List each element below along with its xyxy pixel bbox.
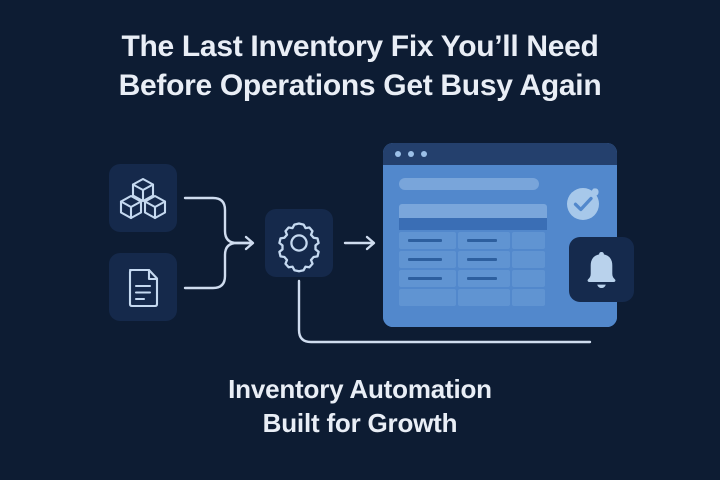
cell-text-line xyxy=(467,277,497,280)
table-cell xyxy=(512,289,545,306)
tagline-line-2: Built for Growth xyxy=(0,406,720,440)
table-row[interactable] xyxy=(399,270,547,287)
table-cell xyxy=(458,270,510,287)
table-cell xyxy=(458,251,510,268)
table-row[interactable] xyxy=(399,251,547,268)
document-icon xyxy=(109,253,177,321)
window-dot-3 xyxy=(421,151,427,157)
tagline-line-1: Inventory Automation xyxy=(0,372,720,406)
node-document[interactable] xyxy=(109,253,177,321)
cell-text-line xyxy=(467,239,497,242)
panel-header xyxy=(399,204,547,218)
cell-text-line xyxy=(467,258,497,261)
table-cell xyxy=(399,251,456,268)
tagline: Inventory Automation Built for Growth xyxy=(0,372,720,440)
check-circle-icon xyxy=(562,182,604,224)
cell-text-line xyxy=(408,277,442,280)
table-cell xyxy=(512,232,545,249)
window-dot-1 xyxy=(395,151,401,157)
table-row[interactable] xyxy=(399,232,547,249)
gear-icon xyxy=(265,209,333,277)
node-inventory[interactable] xyxy=(109,164,177,232)
table-cell xyxy=(458,232,510,249)
cell-text-line xyxy=(408,239,442,242)
window-dot-2 xyxy=(408,151,414,157)
data-table xyxy=(399,218,547,306)
bell-icon xyxy=(569,237,634,302)
table-cell xyxy=(512,270,545,287)
infographic-canvas: The Last Inventory Fix You’ll Need Befor… xyxy=(0,0,720,480)
table-cell xyxy=(399,270,456,287)
boxes-icon xyxy=(109,164,177,232)
cell-text-line xyxy=(408,258,442,261)
node-automation[interactable] xyxy=(265,209,333,277)
table-cell xyxy=(399,232,456,249)
table-row[interactable] xyxy=(399,289,547,306)
status-badge xyxy=(562,182,604,224)
notification-badge[interactable] xyxy=(569,237,634,302)
table-cell xyxy=(512,251,545,268)
search-input[interactable] xyxy=(399,178,539,190)
table-cell xyxy=(458,289,510,306)
window-titlebar xyxy=(383,143,617,165)
table-cell xyxy=(399,289,456,306)
table-header-row xyxy=(399,218,547,230)
